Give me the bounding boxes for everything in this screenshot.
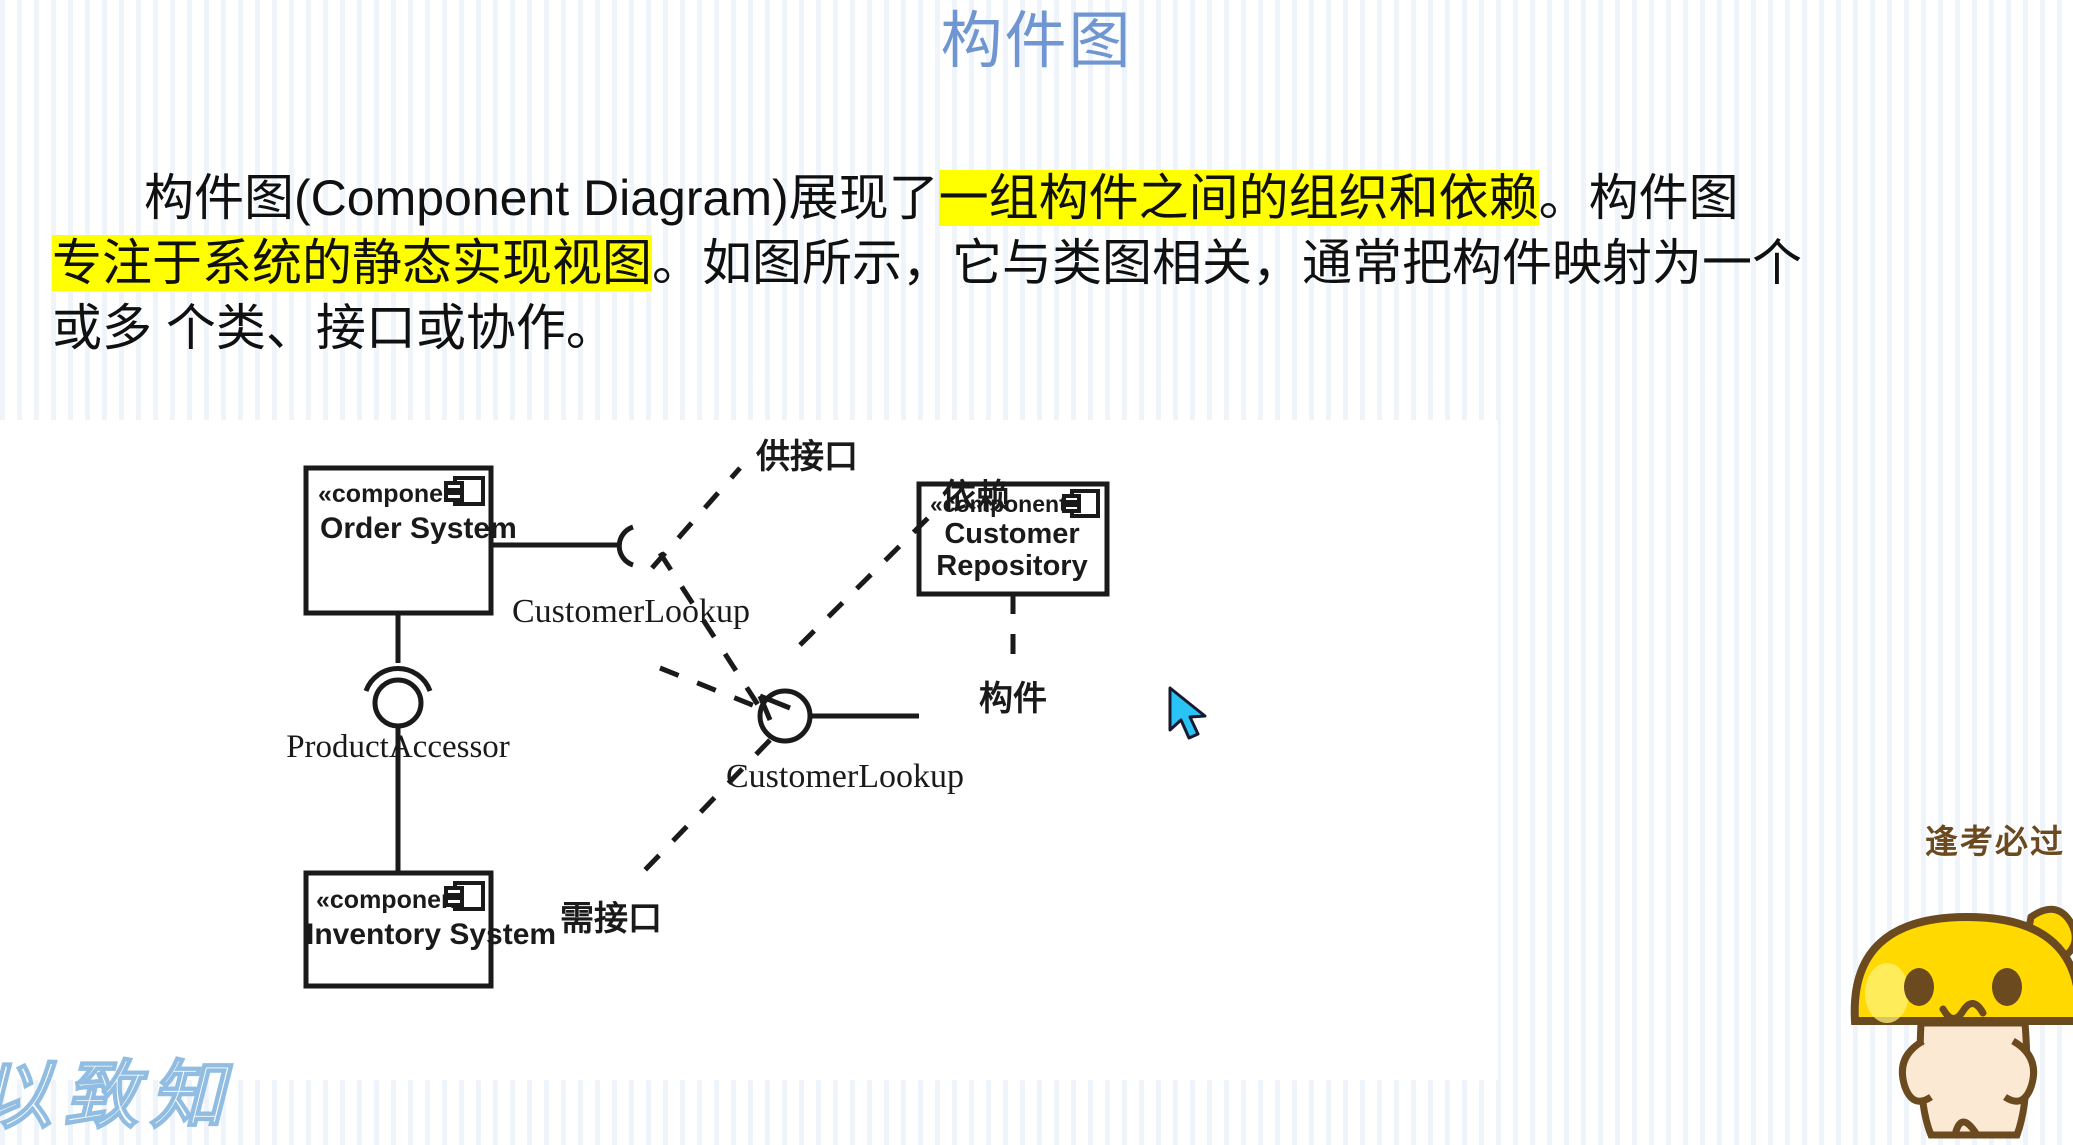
component-icon [446,883,483,909]
order-system-name: Order System [320,512,517,545]
mascot-eye-left [1904,968,1934,1006]
mouse-cursor [1166,686,1212,744]
customer-lookup-required-label: CustomerLookup [726,758,964,795]
callout-required-interface-label: 需接口 [560,900,662,938]
customer-lookup-provided-label: CustomerLookup [512,593,750,630]
paragraph-line1-highlight: 一组构件之间的组织和依赖 [939,170,1539,226]
dependency-line-upper [660,553,760,708]
component-icon [1064,491,1098,516]
mascot-cap-highlight [1865,963,1909,1023]
component-icon [446,478,483,504]
callout-provided-interface-label: 供接口 [755,438,858,476]
product-accessor-label: ProductAccessor [286,729,510,765]
cursor-arrow [1170,688,1205,738]
mascot-illustration [1843,845,2073,1145]
callout-dependency-label: 依赖 [942,478,1010,516]
diagram-svg: «component» Order System «component» Inv… [0,420,1500,1080]
component-order-system[interactable]: «component» Order System [306,468,517,613]
component-diagram: «component» Order System «component» Inv… [0,420,1500,1080]
paragraph-line1-post: 。构件图 [1539,170,1739,226]
paragraph-line2-highlight: 专注于系统的静态实现视图 [52,235,652,291]
inventory-system-name: Inventory System [306,918,556,951]
paragraph-line2-post: 。如图所示，它与类图相关，通常把构件映射为一个 [652,235,1802,291]
watermark: 以致知 [0,1036,236,1143]
callout-provided-interface-line [652,468,740,568]
callout-component-label: 构件 [979,680,1047,718]
provided-interface-socket-arc [619,527,633,565]
product-accessor-ball [375,680,421,726]
paragraph-line3: 或多 个类、接口或协作。 [52,300,616,356]
customer-repository-name-line1: Customer [944,518,1079,550]
mascot-eye-right [1992,968,2022,1006]
body-paragraph: 构件图(Component Diagram)展现了一组构件之间的组织和依赖。构件… [52,166,2022,361]
component-inventory-system[interactable]: «component» Inventory System [306,873,556,986]
page-title: 构件图 [0,6,2073,78]
customer-repository-name-line2: Repository [936,550,1087,582]
dependency-line-mid [660,668,760,708]
mascot: 逢考必过 [1843,815,2073,1145]
callout-dependency-line [800,516,930,645]
paragraph-line1-pre: 构件图(Component Diagram)展现了 [144,170,939,226]
